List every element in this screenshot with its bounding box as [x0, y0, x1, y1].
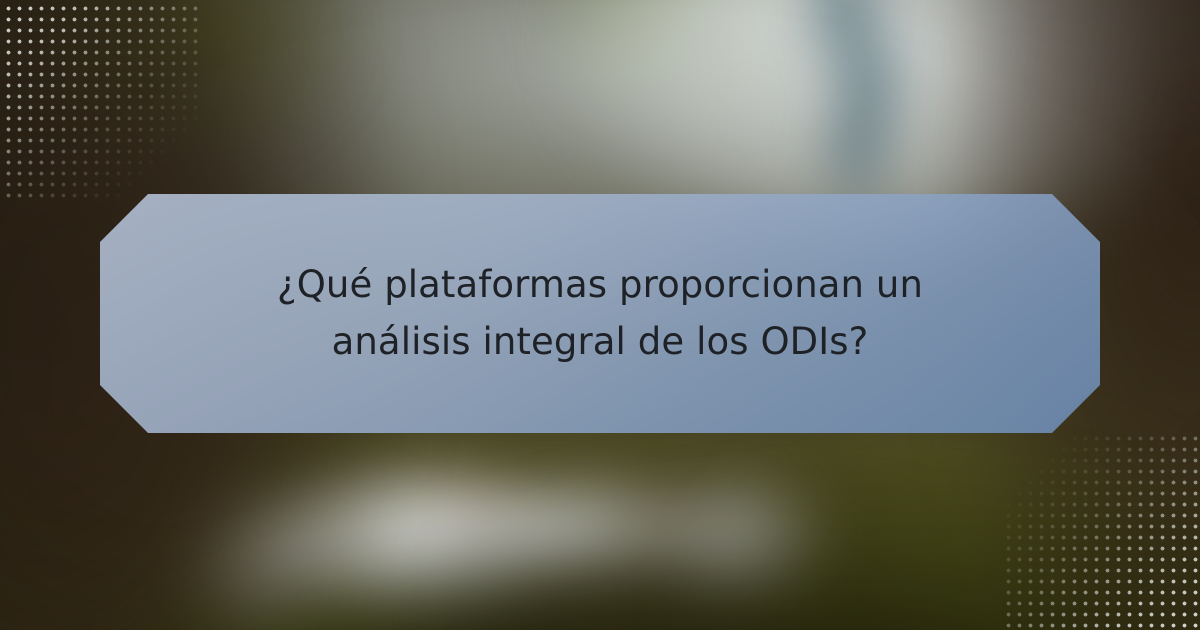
halftone-dots-bottom-right-icon: [1000, 430, 1200, 630]
question-text: ¿Qué plataformas proporcionan un análisi…: [215, 257, 985, 369]
halftone-dots-top-left-icon: [0, 0, 200, 200]
question-card-graphic: ¿Qué plataformas proporcionan un análisi…: [0, 0, 1200, 630]
question-panel: ¿Qué plataformas proporcionan un análisi…: [100, 194, 1100, 433]
